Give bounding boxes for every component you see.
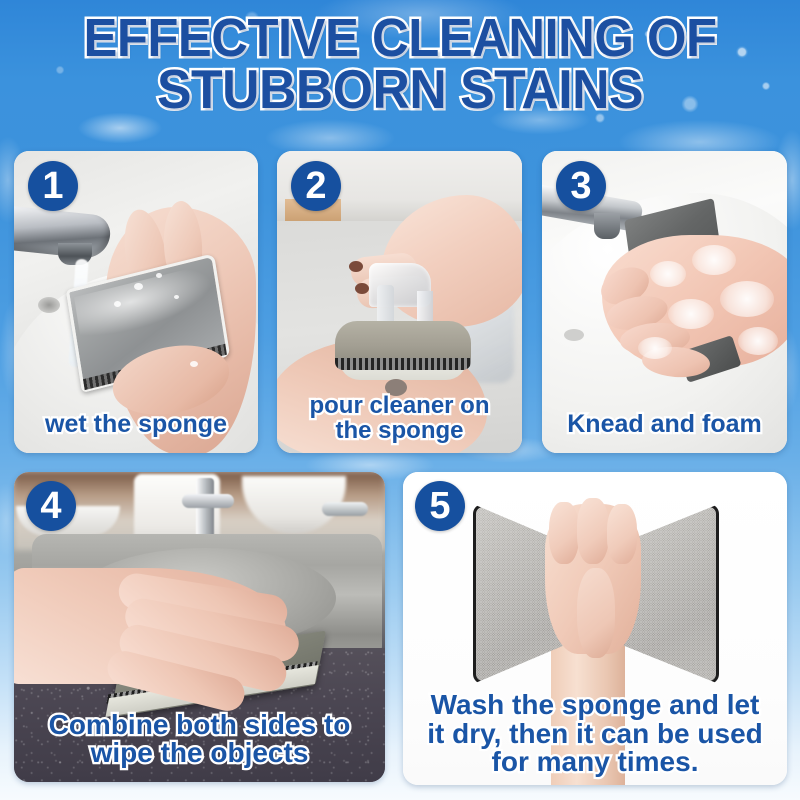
poster-canvas: EFFECTIVE CLEANING OF STUBBORN STAINS 1 … bbox=[0, 0, 800, 800]
step-card-4[interactable]: 4 Combine both sides to wipe the objects bbox=[14, 472, 385, 782]
soap-foam bbox=[668, 299, 714, 329]
title-line-2: STUBBORN STAINS bbox=[24, 64, 776, 115]
sponge bbox=[335, 321, 471, 365]
finger bbox=[577, 498, 609, 564]
water-splash bbox=[134, 283, 143, 290]
step-number-badge-1: 1 bbox=[28, 161, 78, 211]
step-card-2[interactable]: 2 pour cleaner on the sponge bbox=[277, 151, 522, 453]
faucet-handle-right bbox=[322, 502, 368, 516]
title-line-1: EFFECTIVE CLEANING OF bbox=[24, 14, 776, 64]
faucet-handle bbox=[182, 494, 234, 508]
step-number-badge-4: 4 bbox=[26, 481, 76, 531]
fingernail bbox=[385, 379, 407, 396]
water-splash bbox=[174, 295, 179, 299]
soap-foam bbox=[638, 337, 672, 359]
soap-foam bbox=[650, 261, 686, 287]
step-card-1[interactable]: 1 wet the sponge bbox=[14, 151, 258, 453]
soap-foam bbox=[720, 281, 774, 317]
step-number-badge-5: 5 bbox=[415, 481, 465, 531]
fingernail bbox=[349, 261, 363, 272]
sink-overflow-hole bbox=[38, 297, 60, 313]
step-number-badge-3: 3 bbox=[556, 161, 606, 211]
water-splash bbox=[114, 301, 121, 307]
water-texture-top bbox=[0, 0, 800, 160]
soap-foam bbox=[692, 245, 736, 275]
thumb bbox=[577, 568, 615, 658]
poster-title: EFFECTIVE CLEANING OF STUBBORN STAINS bbox=[0, 14, 800, 114]
water-splash bbox=[156, 273, 162, 278]
step-card-3[interactable]: 3 Knead and foam bbox=[542, 151, 787, 453]
soap-foam bbox=[738, 327, 778, 355]
water-splash bbox=[190, 361, 198, 367]
sink-overflow-hole bbox=[564, 329, 584, 341]
fingernail bbox=[355, 283, 369, 294]
finger bbox=[607, 504, 637, 564]
faucet-tip bbox=[594, 213, 620, 239]
finger bbox=[549, 502, 579, 564]
step-card-5[interactable]: 5 Wash the sponge and let it dry, then i… bbox=[403, 472, 787, 785]
step-number-badge-2: 2 bbox=[291, 161, 341, 211]
